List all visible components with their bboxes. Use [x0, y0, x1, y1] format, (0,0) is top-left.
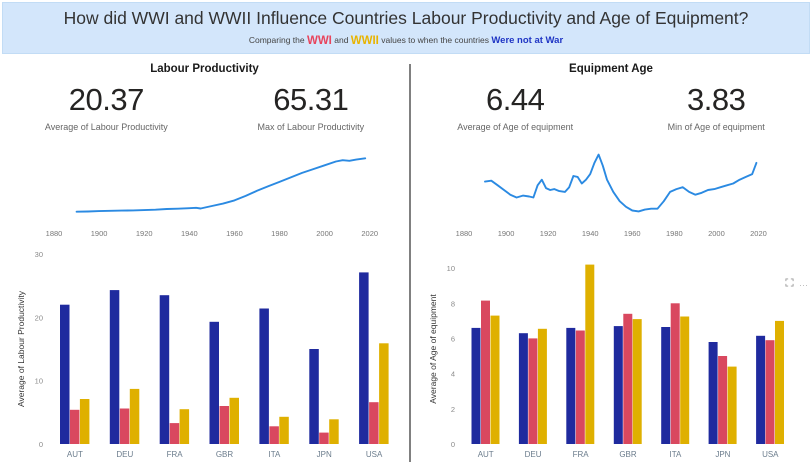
bar-jpn-were-not-at-war[interactable] [709, 342, 718, 444]
kpi-value: 65.31 [258, 84, 365, 117]
labour-productivity-bar-chart[interactable]: 0102030Average of Labour ProductivityAUT… [0, 240, 409, 466]
x-axis-category-label: GBR [216, 450, 234, 459]
x-axis-tick-label: 1920 [136, 229, 153, 238]
subtitle-mid: values to when the countries [379, 35, 491, 45]
bar-jpn-wwi[interactable] [319, 433, 329, 444]
kpi-card-min-age-equipment[interactable]: 3.83 Min of Age of equipment [668, 84, 765, 132]
y-axis-tick-label: 0 [39, 440, 43, 449]
kpi-value: 20.37 [45, 84, 168, 117]
x-axis-category-label: GBR [619, 450, 637, 459]
x-axis-category-label: USA [762, 450, 779, 459]
x-axis-category-label: FRA [573, 450, 590, 459]
dashboard-page: How did WWI and WWII Influence Countries… [0, 0, 812, 468]
bar-ita-were-not-at-war[interactable] [259, 309, 269, 445]
bar-ita-wwii[interactable] [680, 317, 689, 445]
y-axis-tick-label: 20 [35, 313, 43, 322]
x-axis-tick-label: 1960 [624, 229, 641, 238]
right-panel-title: Equipment Age [410, 63, 812, 75]
bar-aut-were-not-at-war[interactable] [60, 305, 70, 444]
kpi-label: Average of Age of equipment [457, 122, 573, 132]
x-axis-category-label: ITA [268, 450, 281, 459]
subtitle-peace-highlight: Were not at War [491, 35, 563, 46]
bar-deu-were-not-at-war[interactable] [519, 333, 528, 444]
x-axis-tick-label: 1920 [540, 229, 557, 238]
line-series-path [77, 158, 366, 211]
bar-fra-wwi[interactable] [170, 423, 180, 444]
bar-usa-wwi[interactable] [766, 340, 775, 444]
y-axis-title: Average of Age of equipment [428, 294, 438, 404]
line-series-path [485, 155, 756, 212]
bar-usa-were-not-at-war[interactable] [359, 272, 369, 444]
subtitle-and: and [332, 35, 351, 45]
left-panel-title: Labour Productivity [0, 63, 409, 75]
kpi-label: Max of Labour Productivity [258, 122, 365, 132]
equipment-age-trend-chart[interactable]: 18801900192019401960198020002020 [424, 144, 799, 238]
x-axis-tick-label: 1960 [226, 229, 243, 238]
bar-usa-were-not-at-war[interactable] [756, 336, 765, 444]
y-axis-tick-label: 10 [35, 377, 43, 386]
kpi-value: 6.44 [457, 84, 573, 117]
bar-deu-were-not-at-war[interactable] [110, 290, 120, 444]
kpi-card-avg-labour-productivity[interactable]: 20.37 Average of Labour Productivity [45, 84, 168, 132]
x-axis-category-label: JPN [317, 450, 332, 459]
bar-aut-wwii[interactable] [491, 316, 500, 444]
kpi-label: Min of Age of equipment [668, 122, 765, 132]
x-axis-tick-label: 1940 [582, 229, 599, 238]
bar-gbr-were-not-at-war[interactable] [614, 326, 623, 444]
kpi-card-avg-age-equipment[interactable]: 6.44 Average of Age of equipment [457, 84, 573, 132]
bar-deu-wwi[interactable] [120, 409, 130, 445]
x-axis-category-label: ITA [669, 450, 682, 459]
bar-jpn-wwi[interactable] [718, 356, 727, 444]
right-kpi-row: 6.44 Average of Age of equipment 3.83 Mi… [410, 84, 812, 132]
bar-aut-wwi[interactable] [481, 301, 490, 444]
bar-jpn-wwii[interactable] [728, 367, 737, 444]
x-axis-category-label: AUT [67, 450, 83, 459]
bar-gbr-wwii[interactable] [633, 319, 642, 444]
x-axis-tick-label: 2000 [708, 229, 725, 238]
labour-productivity-trend-chart[interactable]: 18801900192019401960198020002020 [14, 148, 399, 238]
bar-ita-wwi[interactable] [269, 426, 279, 444]
bar-fra-wwii[interactable] [180, 409, 190, 444]
x-axis-category-label: FRA [167, 450, 184, 459]
bar-fra-were-not-at-war[interactable] [566, 328, 575, 444]
x-axis-tick-label: 1900 [91, 229, 108, 238]
bar-usa-wwii[interactable] [775, 321, 784, 444]
bar-fra-wwii[interactable] [585, 265, 594, 444]
bar-chart-svg: 0246810Average of Age of equipmentAUTDEU… [410, 240, 812, 466]
x-axis-category-label: AUT [478, 450, 494, 459]
x-axis-tick-label: 1880 [456, 229, 473, 238]
x-axis-category-label: USA [366, 450, 383, 459]
bar-usa-wwi[interactable] [369, 402, 379, 444]
bar-gbr-were-not-at-war[interactable] [210, 322, 220, 444]
subtitle-wwii-highlight: WWII [351, 35, 379, 47]
subtitle-wwi-highlight: WWI [307, 35, 332, 47]
x-axis-category-label: DEU [116, 450, 133, 459]
bar-deu-wwii[interactable] [538, 329, 547, 444]
x-axis-tick-label: 1980 [666, 229, 683, 238]
x-axis-tick-label: 2020 [750, 229, 767, 238]
bar-fra-wwi[interactable] [576, 331, 585, 445]
y-axis-tick-label: 4 [451, 370, 455, 379]
x-axis-tick-label: 1980 [271, 229, 288, 238]
subtitle-prefix: Comparing the [249, 35, 307, 45]
equipment-age-bar-chart[interactable]: 0246810Average of Age of equipmentAUTDEU… [410, 240, 812, 466]
dashboard-header: How did WWI and WWII Influence Countries… [2, 2, 810, 54]
y-axis-tick-label: 6 [451, 334, 455, 343]
y-axis-title: Average of Labour Productivity [16, 290, 26, 407]
page-subtitle: Comparing the WWI and WWII values to whe… [249, 35, 563, 47]
equipment-age-panel: Equipment Age 6.44 Average of Age of equ… [410, 58, 812, 466]
y-axis-tick-label: 2 [451, 405, 455, 414]
line-chart-svg: 18801900192019401960198020002020 [424, 144, 799, 238]
bar-jpn-were-not-at-war[interactable] [309, 349, 319, 444]
labour-productivity-panel: Labour Productivity 20.37 Average of Lab… [0, 58, 409, 466]
line-chart-svg: 18801900192019401960198020002020 [14, 148, 399, 238]
bar-aut-wwi[interactable] [70, 410, 80, 444]
bar-gbr-wwi[interactable] [623, 314, 632, 444]
bar-jpn-wwii[interactable] [329, 419, 339, 444]
bar-gbr-wwi[interactable] [220, 406, 230, 444]
x-axis-tick-label: 2000 [316, 229, 333, 238]
x-axis-category-label: JPN [715, 450, 730, 459]
bar-deu-wwii[interactable] [130, 389, 140, 444]
bar-fra-were-not-at-war[interactable] [160, 295, 170, 444]
kpi-label: Average of Labour Productivity [45, 122, 168, 132]
bar-ita-wwi[interactable] [671, 303, 680, 444]
kpi-card-max-labour-productivity[interactable]: 65.31 Max of Labour Productivity [258, 84, 365, 132]
kpi-value: 3.83 [668, 84, 765, 117]
x-axis-tick-label: 1880 [46, 229, 63, 238]
x-axis-category-label: DEU [525, 450, 542, 459]
bar-chart-svg: 0102030Average of Labour ProductivityAUT… [0, 240, 409, 466]
y-axis-tick-label: 0 [451, 440, 455, 449]
bar-gbr-wwii[interactable] [230, 398, 240, 444]
y-axis-tick-label: 8 [451, 299, 455, 308]
bar-ita-were-not-at-war[interactable] [661, 327, 670, 444]
y-axis-tick-label: 30 [35, 250, 43, 259]
x-axis-tick-label: 1940 [181, 229, 198, 238]
bar-ita-wwii[interactable] [279, 417, 289, 444]
bar-usa-wwii[interactable] [379, 343, 389, 444]
bar-deu-wwi[interactable] [528, 338, 537, 444]
bar-aut-wwii[interactable] [80, 399, 90, 444]
page-title: How did WWI and WWII Influence Countries… [64, 9, 749, 28]
bar-aut-were-not-at-war[interactable] [472, 328, 481, 444]
x-axis-tick-label: 2020 [361, 229, 378, 238]
x-axis-tick-label: 1900 [498, 229, 515, 238]
left-kpi-row: 20.37 Average of Labour Productivity 65.… [0, 84, 409, 132]
y-axis-tick-label: 10 [447, 264, 455, 273]
